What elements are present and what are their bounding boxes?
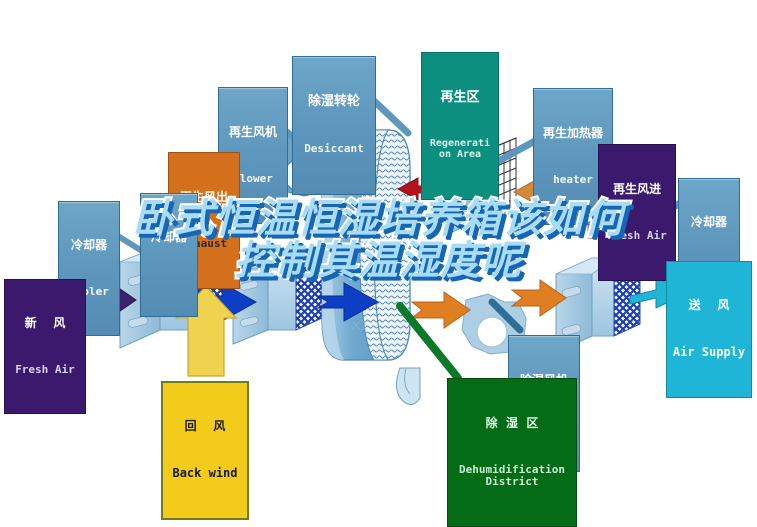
diagram-canvas: XT (0, 0, 757, 488)
page-title: 卧式恒温恒湿培养箱该如何 控制其温湿度呢 (0, 198, 757, 282)
label-dehumidification-district[interactable]: 除 湿 区 Dehumidification District (447, 378, 577, 527)
watermark-text: XT (352, 318, 369, 333)
label-back-wind[interactable]: 回 风 Back wind (161, 381, 249, 520)
arrow-dehumidified-air-1 (412, 292, 470, 328)
label-regeneration-area[interactable]: 再生区 Regenerati on Area (421, 52, 499, 200)
title-line-1: 卧式恒温恒湿培养箱该如何 (0, 198, 757, 240)
title-line-2: 控制其温湿度呢 (0, 240, 757, 282)
label-desiccant-wheel[interactable]: 除湿转轮 Desiccant (292, 56, 376, 195)
label-fresh-air[interactable]: 新 风 Fresh Air (4, 279, 86, 414)
